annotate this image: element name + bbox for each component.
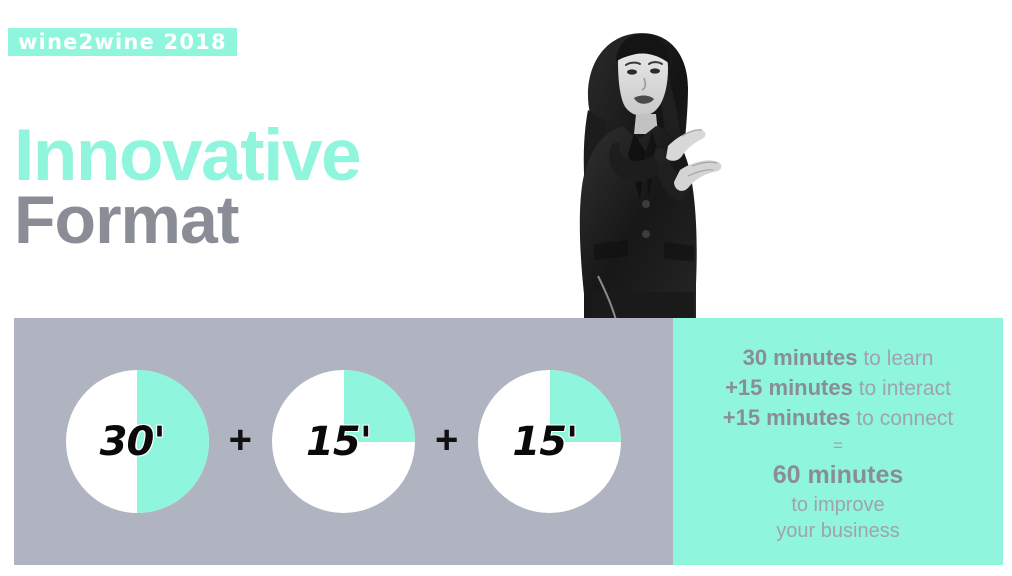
pie-label: 15' bbox=[473, 370, 616, 513]
pie-label: 30' bbox=[61, 370, 204, 513]
pie-chart-30: 30' bbox=[66, 370, 209, 513]
brand-badge-label: wine2wine 2018 bbox=[18, 32, 227, 53]
summary-equals-sign: = bbox=[833, 433, 843, 459]
pie-label: 15' bbox=[267, 370, 410, 513]
plus-operator-2: + bbox=[435, 420, 458, 460]
summary-line-1-light: to learn bbox=[858, 347, 934, 370]
summary-line-2-light: to interact bbox=[853, 377, 951, 400]
summary-line-1-strong: 30 minutes bbox=[743, 345, 858, 370]
brand-badge: wine2wine 2018 bbox=[8, 28, 237, 56]
summary-line-3-light: to connect bbox=[851, 407, 954, 430]
page-title-line-1: Innovative bbox=[14, 122, 360, 189]
page-title-line-2: Format bbox=[14, 189, 360, 252]
summary-line-1: 30 minutes to learn bbox=[743, 343, 934, 373]
summary-line-3: +15 minutes to connect bbox=[723, 403, 954, 433]
pie-chart-15-b: 15' bbox=[478, 370, 621, 513]
summary-text-block: 30 minutes to learn +15 minutes to inter… bbox=[673, 318, 1003, 565]
plus-operator-1: + bbox=[229, 420, 252, 460]
summary-total: 60 minutes bbox=[773, 459, 904, 493]
pie-chart-15-a: 15' bbox=[272, 370, 415, 513]
summary-tail-2: your business bbox=[776, 518, 899, 544]
page-title: Innovative Format bbox=[14, 122, 360, 252]
summary-line-3-strong: +15 minutes bbox=[723, 405, 851, 430]
speaker-photo bbox=[536, 18, 740, 320]
pie-chart-row: 30' + 15' + 15' bbox=[14, 318, 673, 565]
summary-line-2: +15 minutes to interact bbox=[725, 373, 951, 403]
summary-tail-1: to improve bbox=[791, 492, 884, 518]
summary-line-2-strong: +15 minutes bbox=[725, 375, 853, 400]
